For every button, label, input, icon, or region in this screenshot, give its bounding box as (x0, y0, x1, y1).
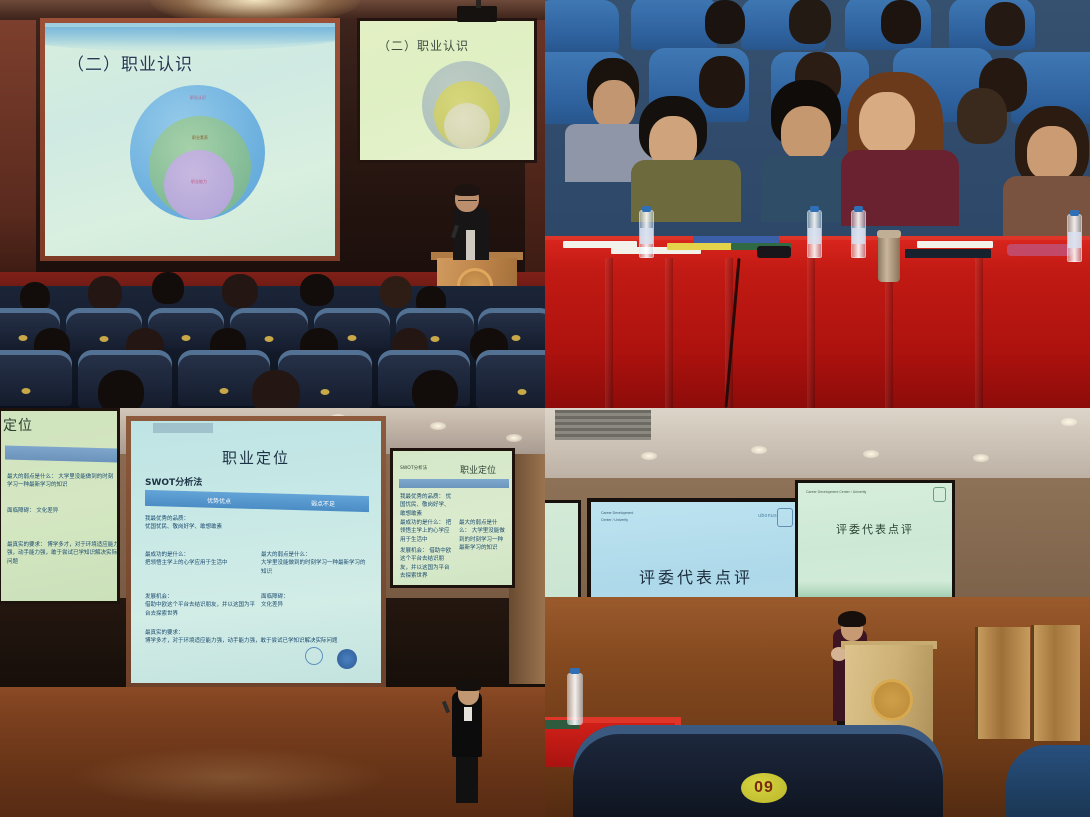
audience-head (152, 272, 184, 304)
bottle-label (640, 228, 653, 244)
seat-number-badge (100, 336, 109, 342)
swot-cell: 最成功的是什么： 把领悟主学上的心学应用于生活中 (145, 551, 255, 568)
seat (476, 350, 545, 408)
audience-head (881, 0, 921, 44)
thermos-cap (877, 230, 901, 238)
slide-title: （二）职业认识 (67, 50, 193, 75)
main-projection-screen: 职业定位 SWOT分析法 优势优点 弱点不足 我最优秀的品质： 忧国忧民、敬岗好… (126, 416, 386, 688)
side-projection-screen: （二）职业认识 (357, 18, 537, 163)
seat (545, 0, 619, 52)
panelist-face (781, 106, 831, 160)
water-bottle (639, 210, 654, 258)
ceiling-downlight (863, 450, 879, 458)
water-bottle (1067, 214, 1082, 262)
audience-head (789, 0, 831, 44)
swot-cell: 最大的弱点是什么： 大学里没能做到的时刻学习一种最新学习的知识 (261, 551, 369, 576)
right-projection-screen: 职业定位 SWOT分析法 我最优秀的品质： 忧国忧民、敬岗好学、敢想敢素 最成功… (390, 448, 515, 588)
speaker-shirt (466, 230, 475, 260)
panel-bottom-left: 定位 最大的弱点是什么： 大学里没能做到的时刻学习一种最新学习的知识 面临障碍：… (0, 408, 545, 817)
water-bottle (807, 210, 822, 258)
presenter-legs (456, 753, 478, 803)
swot-header-weaknesses: 弱点不足 (311, 499, 335, 509)
audience-head (88, 276, 122, 310)
side-slide-title: 评委代表点评 (798, 521, 952, 537)
water-bottle (567, 673, 583, 725)
ceiling-downlight (973, 454, 989, 462)
microphone-base (757, 246, 791, 258)
audience-head (412, 370, 458, 408)
left-slide-row: 最大的弱点是什么： 大学里没能做到的时刻学习一种最新学习的知识 (7, 473, 115, 490)
speaker-hair (838, 611, 866, 627)
swot-cell: 我最优秀的品质： 忧国忧民、敬岗好学、敢想敢素 (145, 515, 253, 532)
slide-surface: 职业定位 SWOT分析法 优势优点 弱点不足 我最优秀的品质： 忧国忧民、敬岗好… (131, 421, 381, 683)
paper-sheet (693, 236, 779, 243)
left-slide-row: 最真实的要求： 博学多才，对于环境适应能力强，动手能力强，敢于尝试已学知识解决实… (7, 541, 117, 566)
slide-title: 评委代表点评 (591, 564, 801, 588)
bottle-cap (810, 206, 819, 212)
foreground-seat (573, 725, 943, 817)
paper-sheet (917, 241, 993, 248)
seat-number-badge (518, 389, 527, 395)
right-slide-title: 职业定位 (460, 463, 496, 476)
main-projection-screen: （二）职业认识 职业认识 职业素养 职业能力 (40, 18, 340, 261)
inner-circle-label: 职业能力 (164, 179, 234, 184)
middle-circle-label: 职业素养 (165, 135, 235, 140)
right-slide-cell: 最大的弱点是什么： 大学里没能做到的时刻学习一种最新学习的知识 (459, 519, 507, 552)
bottle-label (808, 228, 821, 244)
seat-number-badge (348, 335, 357, 341)
swot-header-strengths: 优势优点 (207, 496, 231, 506)
podium-emblem (871, 679, 913, 721)
slide-subtitle: SWOT分析法 (145, 475, 202, 488)
table-drape-fold (665, 258, 673, 408)
panel-top-left: （二）职业认识 职业认识 职业素养 职业能力 （二）职业认识 (0, 0, 545, 408)
ceiling-air-vent (555, 410, 651, 440)
ceiling-downlight (641, 452, 657, 460)
right-slide-subtitle: SWOT分析法 (400, 465, 427, 471)
right-slide-surface: 职业定位 SWOT分析法 我最优秀的品质： 忧国忧民、敬岗好学、敢想敢素 最成功… (393, 451, 512, 585)
audience-head (300, 274, 334, 306)
presenter-hair (456, 679, 481, 691)
table-drape-fold (807, 258, 815, 408)
thermos (878, 234, 900, 282)
swot-cell: 面临障碍： 文化差异 (261, 593, 361, 610)
wall-cabinet (975, 627, 1030, 739)
side-slide-title: （二）职业认识 (378, 37, 469, 54)
judges-table (545, 240, 1090, 408)
right-slide-cell: 我最优秀的品质： 忧国忧民、敬岗好学、敢想敢素 (400, 493, 452, 518)
wall-cabinet (1031, 625, 1080, 741)
foreground-seat-right (1006, 745, 1090, 817)
audience-head (705, 0, 745, 44)
left-wall-panel (0, 20, 36, 295)
bottle-cap (854, 206, 863, 212)
outer-circle-label: 职业认识 (163, 95, 233, 100)
slide-logo-text: ubonus (758, 513, 777, 519)
seat-number-badge: 09 (741, 773, 787, 803)
ceiling-downlight (751, 446, 767, 454)
bottle-label (1068, 232, 1081, 248)
seat-number-badge (220, 388, 229, 394)
bottle-cap (570, 668, 580, 674)
ceiling-projector (457, 6, 497, 22)
seat-number-badge (512, 335, 521, 341)
slide-logo-secondary (337, 649, 357, 669)
right-slide-table-header (399, 479, 509, 488)
seat-number-badge (182, 335, 191, 341)
audience-head (957, 88, 1007, 144)
audience-head (252, 370, 300, 408)
side-slide-corner-text: Career Development Center / Univerity (806, 489, 866, 496)
panel-top-right (545, 0, 1090, 408)
seat-number-badge (431, 336, 440, 342)
audience-head (98, 370, 144, 408)
right-slide-cell: 发展机会： 借助中欧这个平台去结识朋友，并以这国为平台去探索世界 (400, 547, 452, 580)
seat-number-badge (19, 335, 28, 341)
side-projection-screen: Career Development Center / Univerity 评委… (795, 480, 955, 606)
left-projection-screen: 定位 最大的弱点是什么： 大学里没能做到的时刻学习一种最新学习的知识 面临障碍：… (0, 408, 120, 604)
right-slide-cell: 最成功的是什么： 把领悟主学上的心学应用于生活中 (400, 519, 452, 544)
seat-number-badge (265, 336, 274, 342)
side-slide-surface: （二）职业认识 (360, 21, 534, 160)
side-slide-logo-icon (933, 487, 946, 502)
bottle-label (852, 228, 865, 244)
left-slide-surface: 定位 最大的弱点是什么： 大学里没能做到的时刻学习一种最新学习的知识 面临障碍：… (1, 411, 117, 601)
audience-head (699, 56, 745, 108)
side-inner-circle (444, 103, 490, 149)
speaker-glasses (458, 200, 477, 205)
audience-head (222, 274, 258, 308)
left-slide-title: 定位 (3, 415, 33, 435)
ceiling-downlight (506, 434, 522, 442)
projector-mount (476, 0, 481, 8)
bottle-cap (642, 206, 651, 212)
speaker-hair (454, 184, 480, 196)
inner-circle (164, 150, 234, 220)
ceiling-downlight (430, 422, 446, 430)
floor-reflection (70, 747, 390, 807)
swot-table-header: 优势优点 弱点不足 (145, 490, 369, 512)
side-slide-surface: Career Development Center / Univerity 评委… (798, 483, 952, 603)
photo-collage: （二）职业认识 职业认识 职业素养 职业能力 （二）职业认识 (0, 0, 1090, 817)
panel-bottom-right: Career Development Center / Univerity ub… (545, 408, 1090, 817)
slide-logo-icon (777, 508, 793, 527)
left-slide-row: 面临障碍： 文化差异 (7, 507, 115, 515)
bottle-cap (1070, 210, 1079, 216)
slide-surface: （二）职业认识 职业认识 职业素养 职业能力 (45, 23, 335, 256)
audience-head (985, 2, 1025, 46)
slide-corner-text: Career Development Center / Univerity (601, 510, 633, 523)
panelist-face (1027, 126, 1077, 180)
slide-logo-primary (305, 647, 323, 665)
slide-title: 职业定位 (131, 447, 381, 468)
pencil-case (1007, 244, 1073, 256)
swot-cell: 最真实的要求： 博学多才，对于环境适应能力强，动手能力强，敢于尝试已学知识解决实… (145, 629, 367, 646)
seat (0, 350, 72, 406)
table-drape-fold (605, 258, 613, 408)
left-slide-table-header (5, 446, 117, 463)
panelist-face (593, 80, 635, 128)
slide-toolbar-strip (153, 423, 213, 433)
seat-number-badge (321, 389, 330, 395)
swot-cell: 发展机会： 借助中欧这个平台去结识朋友，并以这国为平台去探索世界 (145, 593, 257, 618)
table-drape-fold (975, 258, 983, 408)
seat-number-badge (22, 388, 31, 394)
notebook (905, 249, 991, 258)
ceiling-downlight (1061, 418, 1077, 426)
water-bottle (851, 210, 866, 258)
panelist-face (859, 92, 915, 154)
audience-head (380, 276, 412, 308)
